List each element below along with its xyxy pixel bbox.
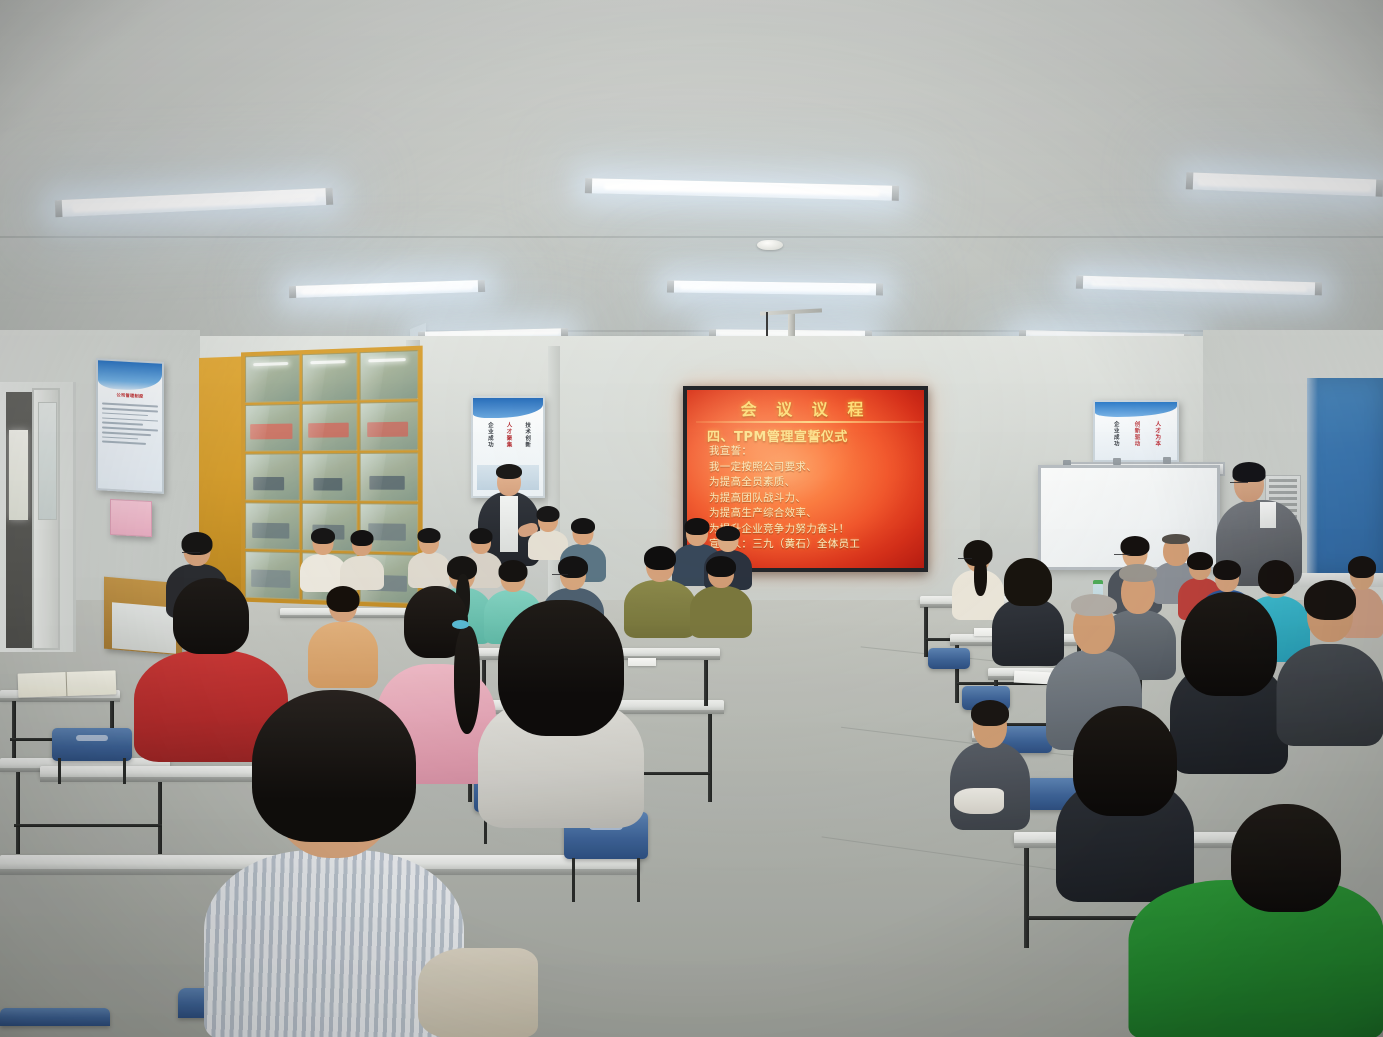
ceiling-seam bbox=[0, 236, 1383, 238]
cabinet-pane bbox=[245, 453, 299, 500]
notice-board-text bbox=[102, 403, 157, 449]
cabinet-pane bbox=[360, 350, 418, 400]
slide-divider bbox=[696, 421, 923, 423]
chair[interactable] bbox=[928, 648, 970, 682]
audience-member bbox=[340, 530, 384, 588]
poster-wave-graphic bbox=[473, 398, 543, 418]
glasses-icon bbox=[182, 552, 200, 554]
pink-notice[interactable] bbox=[110, 499, 152, 537]
cabinet-pane bbox=[302, 352, 358, 401]
poster-column: 人才聚集 bbox=[504, 422, 511, 448]
collar bbox=[1260, 502, 1276, 528]
slide-line: 我宣誓： bbox=[709, 444, 927, 460]
glasses-icon bbox=[552, 574, 568, 576]
slide-line: 我一定按照公司要求、 bbox=[709, 460, 927, 476]
poster-column: 创新驱动 bbox=[1132, 421, 1139, 447]
poster-wave-graphic bbox=[1095, 402, 1177, 417]
audience-member bbox=[478, 600, 644, 824]
values-poster[interactable]: 企业成功 创新驱动 人才为本 bbox=[1093, 400, 1179, 462]
bag[interactable] bbox=[418, 948, 538, 1037]
notice-board-title: 公司管理制度 bbox=[98, 391, 162, 401]
chair[interactable] bbox=[0, 1008, 110, 1037]
poster-column: 人才为本 bbox=[1153, 421, 1160, 447]
shoe bbox=[954, 788, 1004, 814]
poster-column: 企业成功 bbox=[486, 422, 493, 448]
audience-member bbox=[308, 586, 378, 686]
audience-member bbox=[1276, 580, 1383, 740]
door-glass-panel bbox=[38, 402, 57, 520]
smoke-detector-icon bbox=[757, 240, 783, 250]
cabinet-pane bbox=[245, 502, 299, 550]
slide-line: 为提高生产综合效率、 bbox=[709, 506, 927, 522]
poster-column: 企业成功 bbox=[1112, 421, 1119, 447]
whiteboard-clip bbox=[1163, 457, 1171, 464]
cabinet-pane bbox=[360, 452, 418, 501]
poster-column: 技术创新 bbox=[523, 422, 530, 448]
door-inner-glass bbox=[9, 430, 28, 520]
audience-member-foreground bbox=[1128, 814, 1383, 1037]
meeting-room-photo: 公司管理制度 企业成功 人才聚集 技术创新 企业成功 创新驱动 人才为本 bbox=[0, 0, 1383, 1037]
slide-heading: 四、TPM管理宣誓仪式 bbox=[707, 426, 922, 445]
slide-line: 为提高团队战斗力、 bbox=[709, 491, 927, 507]
cabinet-pane bbox=[245, 354, 299, 403]
slide-title: 会 议 议 程 bbox=[687, 396, 924, 420]
cabinet-pane bbox=[302, 453, 358, 501]
entry-door[interactable] bbox=[32, 388, 60, 650]
cabinet-pane bbox=[302, 403, 358, 452]
slide-line: 为提高全员素质、 bbox=[709, 475, 927, 491]
poster-wave-graphic bbox=[98, 360, 162, 392]
notice-board[interactable]: 公司管理制度 bbox=[96, 358, 164, 494]
hair-tie bbox=[452, 620, 469, 629]
chair[interactable] bbox=[52, 728, 132, 782]
glasses-icon bbox=[958, 558, 972, 560]
audience-member bbox=[950, 700, 1030, 826]
values-poster-columns: 企业成功 创新驱动 人才为本 bbox=[1105, 421, 1167, 455]
glasses-icon bbox=[1114, 554, 1130, 556]
audience-member bbox=[690, 556, 752, 636]
cabinet-pane bbox=[360, 401, 418, 451]
whiteboard-clip bbox=[1113, 458, 1121, 465]
window-blind[interactable] bbox=[1307, 378, 1383, 573]
cabinet-pane bbox=[245, 404, 299, 452]
glasses-icon bbox=[1230, 482, 1248, 484]
open-notebook[interactable] bbox=[18, 670, 117, 697]
